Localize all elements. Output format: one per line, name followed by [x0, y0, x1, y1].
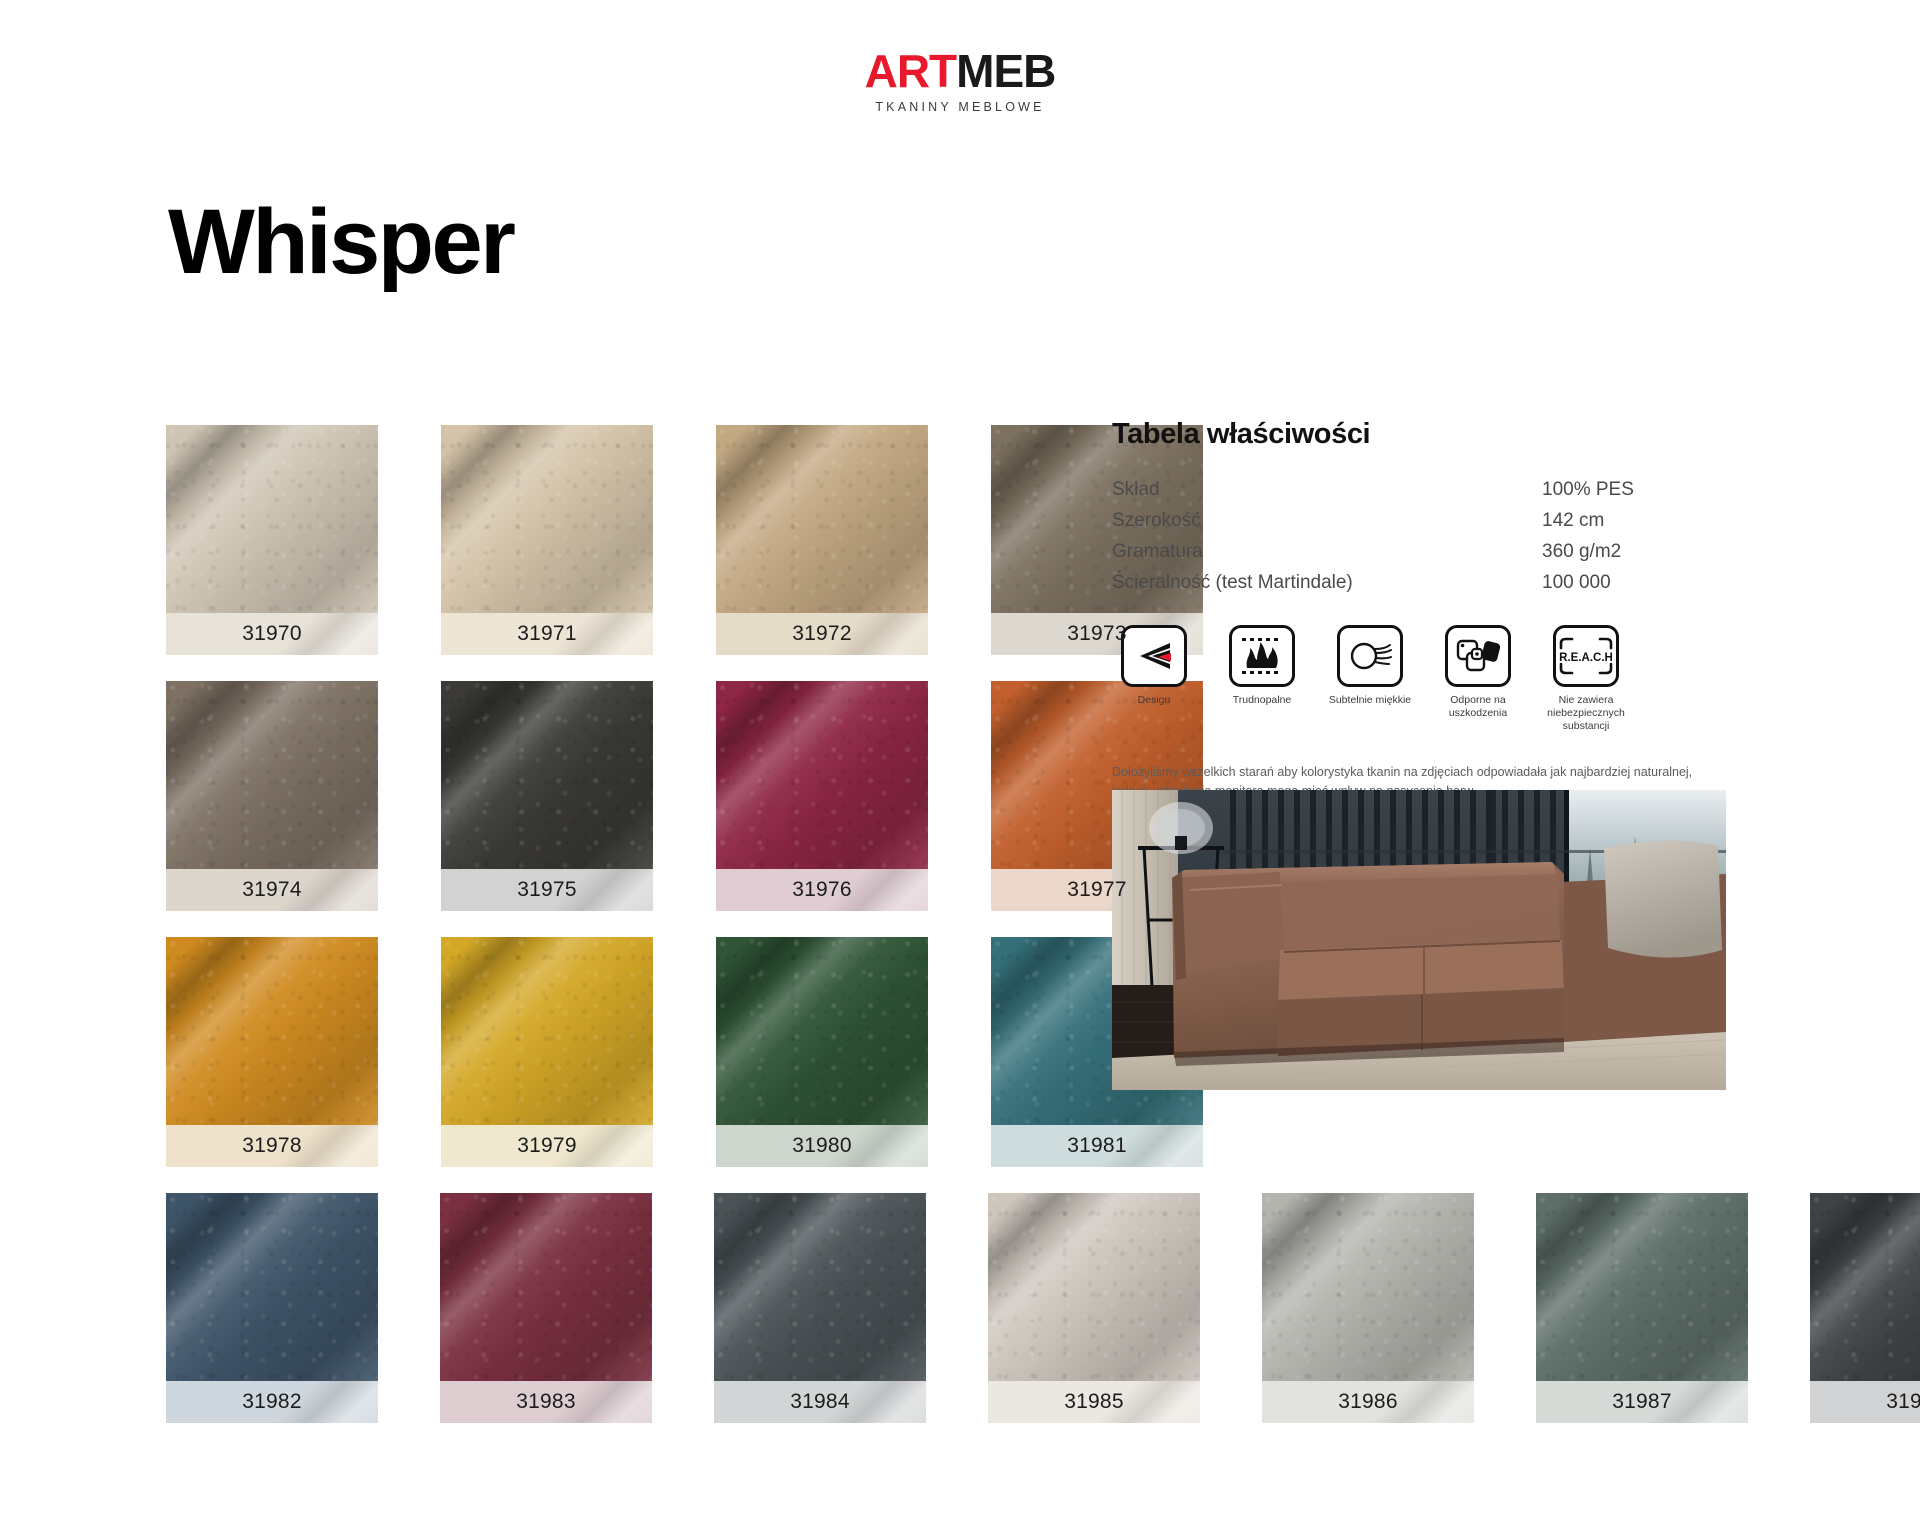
fabric-swatch-image	[441, 681, 653, 869]
swatch-row: 31978319793198031981	[166, 937, 1226, 1167]
property-icon-row: DesignTrudnopalneSubtelnie miękkieOdporn…	[1112, 625, 1732, 733]
fabric-swatch-image	[166, 1193, 378, 1381]
fabric-swatch-label: 31980	[716, 1125, 928, 1167]
properties-row: Gramatura360 g/m2	[1112, 537, 1732, 568]
brand-name-art: ART	[865, 45, 957, 97]
fabric-swatch-label: 31981	[991, 1125, 1203, 1167]
fabric-swatch[interactable]: 31971	[441, 425, 653, 655]
fabric-swatch-image	[441, 425, 653, 613]
soft-touch-icon	[1337, 625, 1403, 687]
fabric-swatch-label: 31979	[441, 1125, 653, 1167]
property-value: 142 cm	[1542, 506, 1732, 537]
catalog-page: ARTMEB TKANINY MEBLOWE Whisper 319703197…	[0, 0, 1920, 1538]
fabric-code: 31977	[1067, 878, 1126, 901]
properties-table-title: Tabela właściwości	[1112, 418, 1732, 451]
swatch-row: 31970319713197231973	[166, 425, 1226, 655]
fabric-code: 31986	[1338, 1390, 1397, 1413]
fabric-swatch[interactable]: 31979	[441, 937, 653, 1167]
properties-panel: Tabela właściwości Skład100% PESSzerokoś…	[1112, 418, 1732, 839]
fabric-code: 31973	[1067, 622, 1126, 645]
page-title: Whisper	[168, 196, 513, 288]
svg-text:R.E.A.C.H: R.E.A.C.H	[1559, 652, 1613, 664]
property-icon-item: R.E.A.C.HNie zawiera niebezpiecznych sub…	[1544, 625, 1628, 733]
fabric-code: 31984	[790, 1390, 849, 1413]
fabric-swatch-image	[988, 1193, 1200, 1381]
fabric-swatch-label: 31971	[441, 613, 653, 655]
brand-logo: ARTMEB TKANINY MEBLOWE	[0, 48, 1920, 114]
fabric-code: 31982	[242, 1390, 301, 1413]
fabric-swatch-image	[441, 937, 653, 1125]
swatch-row: 31982319833198431985319863198731988	[166, 1193, 1826, 1423]
fabric-swatch[interactable]: 31975	[441, 681, 653, 911]
fabric-swatch[interactable]: 31970	[166, 425, 378, 655]
fabric-swatch-label: 31976	[716, 869, 928, 911]
fabric-code: 31987	[1612, 1390, 1671, 1413]
property-icon-item: Trudnopalne	[1220, 625, 1304, 733]
fabric-code: 31974	[242, 878, 301, 901]
fabric-swatch-image	[1536, 1193, 1748, 1381]
property-icon-item: Subtelnie miękkie	[1328, 625, 1412, 733]
brand-tagline: TKANINY MEBLOWE	[0, 100, 1920, 114]
fabric-swatch[interactable]: 31985	[988, 1193, 1200, 1423]
fabric-code: 31979	[517, 1134, 576, 1157]
fabric-swatch[interactable]: 31986	[1262, 1193, 1474, 1423]
fabric-code: 31975	[517, 878, 576, 901]
fabric-swatch-image	[716, 937, 928, 1125]
fabric-swatch[interactable]: 31974	[166, 681, 378, 911]
property-name: Skład	[1112, 475, 1542, 506]
property-icon-caption: Odporne na uszkodzenia	[1436, 694, 1520, 720]
reach-icon: R.E.A.C.H	[1553, 625, 1619, 687]
property-name: Szerokość	[1112, 506, 1542, 537]
fabric-code: 31978	[242, 1134, 301, 1157]
fabric-code: 31976	[792, 878, 851, 901]
fabric-swatch[interactable]: 31983	[440, 1193, 652, 1423]
fabric-swatch-label: 31974	[166, 869, 378, 911]
fabric-swatch-image	[440, 1193, 652, 1381]
swatch-row: 31974319753197631977	[166, 681, 1226, 911]
properties-row: Ścieralność (test Martindale)100 000	[1112, 568, 1732, 599]
properties-row: Skład100% PES	[1112, 475, 1732, 506]
fabric-code: 31985	[1064, 1390, 1123, 1413]
fabric-code: 31983	[516, 1390, 575, 1413]
damage-resistant-icon	[1445, 625, 1511, 687]
sofa-illustration	[1112, 790, 1726, 1090]
property-icon-caption: Nie zawiera niebezpiecznych substancji	[1544, 694, 1628, 733]
fabric-swatch-label: 31985	[988, 1381, 1200, 1423]
fabric-swatch-label: 31984	[714, 1381, 926, 1423]
swatch-grid: 31970319713197231973 3197431975319763197…	[166, 425, 1226, 1449]
sofa-photo	[1112, 790, 1726, 1090]
fabric-swatch-label: 31972	[716, 613, 928, 655]
fabric-swatch-label: 31982	[166, 1381, 378, 1423]
property-value: 100% PES	[1542, 475, 1732, 506]
property-value: 360 g/m2	[1542, 537, 1732, 568]
property-name: Ścieralność (test Martindale)	[1112, 568, 1542, 599]
property-icon-caption: Trudnopalne	[1220, 694, 1304, 707]
fabric-swatch[interactable]: 31987	[1536, 1193, 1748, 1423]
properties-table: Skład100% PESSzerokość142 cmGramatura360…	[1112, 475, 1732, 599]
design-chevron-icon	[1121, 625, 1187, 687]
fabric-code: 31980	[792, 1134, 851, 1157]
fabric-swatch-label: 31975	[441, 869, 653, 911]
fabric-code: 31971	[517, 622, 576, 645]
fabric-swatch-image	[166, 681, 378, 869]
fabric-code: 31988	[1886, 1390, 1920, 1413]
fabric-code: 31981	[1067, 1134, 1126, 1157]
properties-row: Szerokość142 cm	[1112, 506, 1732, 537]
fabric-swatch-label: 31970	[166, 613, 378, 655]
fabric-swatch[interactable]: 31984	[714, 1193, 926, 1423]
fabric-swatch-image	[166, 425, 378, 613]
fabric-swatch[interactable]: 31972	[716, 425, 928, 655]
fabric-swatch-image	[1262, 1193, 1474, 1381]
fabric-swatch[interactable]: 31976	[716, 681, 928, 911]
fabric-swatch-label: 31986	[1262, 1381, 1474, 1423]
fabric-code: 31970	[242, 622, 301, 645]
fabric-swatch-label: 31987	[1536, 1381, 1748, 1423]
fabric-swatch-label: 31983	[440, 1381, 652, 1423]
fabric-swatch-label: 31978	[166, 1125, 378, 1167]
fabric-swatch-image	[1810, 1193, 1920, 1381]
fabric-swatch-image	[166, 937, 378, 1125]
fabric-swatch-image	[714, 1193, 926, 1381]
fabric-code: 31972	[792, 622, 851, 645]
property-value: 100 000	[1542, 568, 1732, 599]
brand-wordmark: ARTMEB	[0, 48, 1920, 94]
property-icon-item: Odporne na uszkodzenia	[1436, 625, 1520, 733]
fabric-swatch-label: 31988	[1810, 1381, 1920, 1423]
fabric-swatch[interactable]: 31980	[716, 937, 928, 1167]
flame-icon	[1229, 625, 1295, 687]
property-icon-caption: Subtelnie miękkie	[1328, 694, 1412, 707]
fabric-swatch[interactable]: 31982	[166, 1193, 378, 1423]
property-name: Gramatura	[1112, 537, 1542, 568]
property-icon-caption: Design	[1112, 694, 1196, 707]
fabric-swatch-image	[716, 425, 928, 613]
fabric-swatch[interactable]: 31988	[1810, 1193, 1920, 1423]
fabric-swatch[interactable]: 31978	[166, 937, 378, 1167]
fabric-swatch-image	[716, 681, 928, 869]
brand-name-meb: MEB	[956, 45, 1055, 97]
